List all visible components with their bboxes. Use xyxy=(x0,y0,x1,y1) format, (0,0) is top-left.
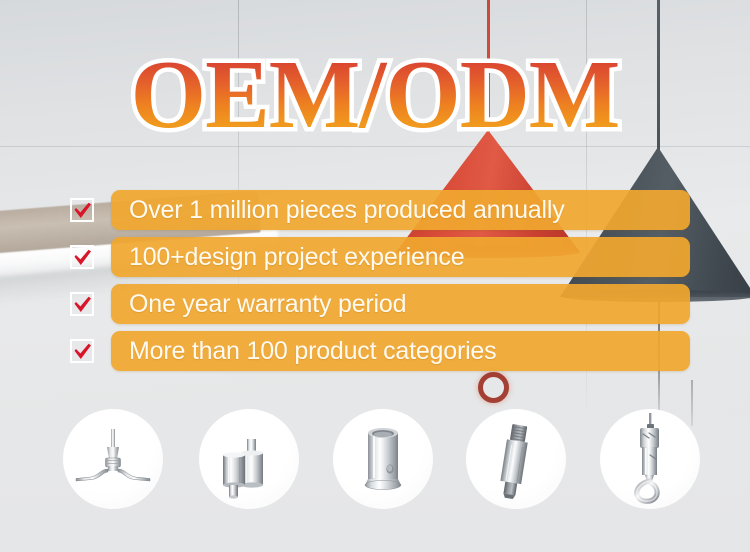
feature-pill: One year warranty period xyxy=(111,284,690,324)
feature-pill: 100+design project experience xyxy=(111,237,690,277)
product-thumbnail xyxy=(600,409,700,509)
product-thumbnail xyxy=(333,409,433,509)
product-thumbnail xyxy=(199,409,299,509)
feature-item: One year warranty period xyxy=(70,284,690,324)
feature-label: 100+design project experience xyxy=(129,243,464,272)
check-mark-icon xyxy=(70,292,94,316)
feature-item: 100+design project experience xyxy=(70,237,690,277)
ceiling-mount-bracket-icon xyxy=(67,413,159,505)
product-thumbnail xyxy=(63,409,163,509)
product-thumbnail xyxy=(466,409,566,509)
tube-sleeve-connector-icon xyxy=(337,413,429,505)
feature-label: One year warranty period xyxy=(129,290,406,319)
cable-gripper-hook-icon xyxy=(604,413,696,505)
check-mark-icon xyxy=(70,245,94,269)
cylindrical-cable-grippers-icon xyxy=(203,413,295,505)
feature-pill: More than 100 product categories xyxy=(111,331,690,371)
feature-label: Over 1 million pieces produced annually xyxy=(129,196,565,225)
check-mark-icon xyxy=(70,339,94,363)
threaded-rod-adapter-icon xyxy=(470,413,562,505)
banner-title: OEM/ODM xyxy=(131,46,620,143)
check-mark-icon xyxy=(70,198,94,222)
oem-odm-promo-banner: OEM/ODM OEM/ODM Over 1 million pieces pr… xyxy=(0,0,750,552)
feature-item: More than 100 product categories xyxy=(70,331,690,371)
feature-list: Over 1 million pieces produced annually … xyxy=(70,190,690,378)
feature-item: Over 1 million pieces produced annually xyxy=(70,190,690,230)
feature-pill: Over 1 million pieces produced annually xyxy=(111,190,690,230)
product-thumbnail-row xyxy=(0,405,750,515)
banner-title-block: OEM/ODM OEM/ODM xyxy=(0,46,750,143)
feature-label: More than 100 product categories xyxy=(129,337,496,366)
